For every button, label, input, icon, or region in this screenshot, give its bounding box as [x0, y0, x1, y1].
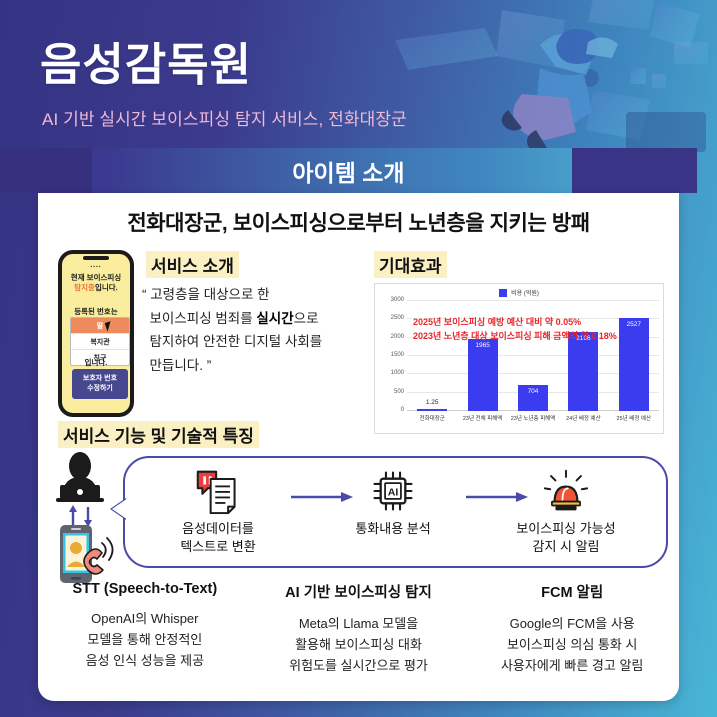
section-title: 아이템 소개 [0, 148, 697, 193]
chart-bar-value-1: 1965 [475, 342, 489, 349]
chart-annotation-1: 2023년 노년층 대상 보이스피싱 피해 금액의 약 0.18% [413, 330, 617, 344]
flow-label-0: 음성데이터를 텍스트로 변환 [143, 520, 293, 555]
flow-step-2: 보이스피싱 가능성 감지 시 알림 [491, 465, 641, 555]
expected-effect-chart: 비용 (억원) 0500100015002000250030001.25전화대장… [374, 283, 664, 434]
phone-status-line1: 현재 보이스피싱 [71, 273, 121, 282]
legend-label-0: 비용 (억원) [511, 288, 539, 297]
feature-heading-1: AI 기반 보이스피싱 탐지 [258, 581, 460, 602]
chart-bar-3: 216624년 배정 예산 [568, 332, 598, 411]
feature-column-2: FCM 알림 Google의 FCM을 사용 보이스피싱 의심 통화 시 사용자… [465, 581, 679, 676]
feature-body-1-line3: 위험도를 실시간으로 평가 [289, 658, 428, 673]
chart-annotations: 2025년 보이스피싱 예방 예산 대비 약 0.05% 2023년 노년층 대… [413, 316, 617, 343]
chart-ytick-3: 1500 [391, 352, 404, 358]
chart-legend: 비용 (억원) [375, 288, 663, 297]
flow-step-1: AI 통화내용 분석 [318, 465, 468, 538]
chart-xtick-0: 전화대장군 [420, 414, 445, 422]
quote-close: ” [207, 358, 212, 373]
feature-body-1-line2: 활용해 보이스피싱 대화 [295, 637, 422, 652]
chart-annotation-0: 2025년 보이스피싱 예방 예산 대비 약 0.05% [413, 316, 617, 330]
phone-status-suffix: 입니다. [95, 283, 118, 292]
feature-heading-0: STT (Speech-to-Text) [44, 581, 246, 597]
chart-ytick-2: 1000 [391, 370, 404, 376]
feature-body-2-line3: 사용자에게 빠른 경고 알림 [501, 658, 643, 673]
content-card: 전화대장군, 보이스피싱으로부터 노년층을 지키는 방패 ▪▪▪▪ 현재 보이스… [38, 193, 679, 701]
phone-select-tail: 입니다. [62, 357, 130, 368]
service-intro-quote: “ 고령층을 대상으로 한 보이스피싱 범죄를 실시간으로 탐지하여 안전한 디… [142, 283, 382, 378]
flow-label-2: 보이스피싱 가능성 감지 시 알림 [491, 520, 641, 555]
edit-guardian-number-button[interactable]: 보호자 번호 수정하기 [72, 369, 128, 399]
feature-body-2-line1: Google의 FCM을 사용 [510, 616, 635, 631]
flow-label-0-line1: 음성데이터를 [182, 521, 254, 536]
flow-label-2-line1: 보이스피싱 가능성 [516, 521, 615, 536]
flow-step-0: 음성데이터를 텍스트로 변환 [143, 465, 293, 555]
chart-ytick-1: 500 [394, 389, 404, 395]
victim-phone-call-icon [52, 523, 114, 585]
balloon-tail [112, 498, 128, 520]
page-title: 음성감독원 [40, 28, 252, 93]
chart-xtick-3: 24년 배정 예산 [566, 414, 600, 422]
chart-bar-value-0: 1.25 [426, 399, 439, 406]
quote-open: “ [142, 287, 147, 302]
flow-label-2-line2: 감지 시 알림 [532, 539, 599, 554]
chart-xtick-2: 23년 노년층 피해액 [511, 414, 556, 422]
feature-body-0: OpenAI의 Whisper 모델을 통해 안정적인 음성 인식 성능을 제공 [44, 608, 246, 671]
guardian-option-1[interactable]: 복지관 [71, 334, 129, 350]
phone-notch [83, 256, 109, 260]
flow-label-0-line2: 텍스트로 변환 [180, 539, 255, 554]
chart-bar-4: 252725년 배정 예산 [619, 318, 649, 411]
slide-root: 음성감독원 AI 기반 실시간 보이스피싱 탐지 서비스, 전화대장군 아이템 … [0, 0, 717, 717]
hero-illustration [390, 0, 717, 165]
quote-line3: 탐지하여 안전한 디지털 사회를 [150, 334, 323, 349]
quote-line2-a: 보이스피싱 범죄를 [150, 311, 257, 326]
flow-label-1-line1: 통화내용 분석 [355, 521, 430, 536]
feature-body-1: Meta의 Llama 모델을 활용해 보이스피싱 대화 위험도를 실시간으로 … [258, 613, 460, 676]
siren-alert-icon [491, 465, 641, 517]
edit-button-line2: 수정하기 [87, 385, 113, 392]
page-subtitle: AI 기반 실시간 보이스피싱 탐지 서비스, 전화대장군 [42, 105, 407, 130]
chart-ytick-4: 2000 [391, 334, 404, 340]
guardian-option-0[interactable]: 딸 [71, 318, 129, 334]
features-title: 서비스 기능 및 기술적 특징 [58, 421, 259, 448]
section-band: 아이템 소개 [0, 148, 697, 193]
card-heading: 전화대장군, 보이스피싱으로부터 노년층을 지키는 방패 [38, 207, 679, 237]
feature-body-0-line2: 모델을 통해 안정적인 [87, 632, 202, 647]
feature-columns: STT (Speech-to-Text) OpenAI의 Whisper 모델을… [38, 581, 679, 676]
phone-select-label: 등록된 번호는 [62, 306, 130, 317]
chart-bar-1: 196523년 전체 피해액 [468, 339, 498, 411]
feature-body-0-line1: OpenAI의 Whisper [91, 611, 198, 626]
chart-xtick-1: 23년 전체 피해액 [463, 414, 503, 422]
service-intro-title: 서비스 소개 [146, 251, 239, 278]
ai-chip-icon: AI [318, 465, 468, 517]
phone-statusbar-dots: ▪▪▪▪ [90, 264, 101, 270]
phone-mockup: ▪▪▪▪ 현재 보이스피싱 탐지중입니다. 등록된 번호는 딸 복지관 친구 입… [58, 250, 134, 417]
chart-gridline-6: 3000 [407, 300, 659, 301]
phone-detect-status: 현재 보이스피싱 탐지중입니다. [62, 273, 130, 293]
quote-line4: 만듭니다. [150, 358, 203, 373]
feature-body-0-line3: 음성 인식 성능을 제공 [86, 653, 204, 668]
quote-line2-b: 으로 [294, 311, 319, 326]
quote-line2-bold: 실시간 [256, 311, 293, 326]
chart-bar-2: 70423년 노년층 피해액 [518, 385, 548, 411]
chart-xtick-4: 25년 배정 예산 [617, 414, 651, 422]
chart-bar-value-4: 2527 [627, 321, 641, 328]
svg-text:AI: AI [388, 486, 399, 498]
hacker-icon [52, 451, 108, 505]
chart-ytick-5: 2500 [391, 315, 404, 321]
phone-status-highlight: 탐지중 [74, 283, 95, 292]
edit-button-line1: 보호자 번호 [83, 375, 117, 382]
chart-ytick-0: 0 [401, 407, 404, 413]
feature-column-0: STT (Speech-to-Text) OpenAI의 Whisper 모델을… [38, 581, 252, 676]
flow-label-1: 통화내용 분석 [318, 520, 468, 538]
feature-body-1-line1: Meta의 Llama 모델을 [299, 616, 418, 631]
chart-bar-0: 1.25전화대장군 [417, 409, 447, 411]
chart-title: 기대효과 [374, 251, 447, 278]
document-speech-icon [143, 465, 293, 517]
feature-column-1: AI 기반 보이스피싱 탐지 Meta의 Llama 모델을 활용해 보이스피싱… [252, 581, 466, 676]
chart-ytick-6: 3000 [391, 297, 404, 303]
feature-heading-2: FCM 알림 [471, 581, 673, 602]
feature-body-2-line2: 보이스피싱 의심 통화 시 [507, 637, 637, 652]
legend-swatch-icon [499, 289, 507, 297]
quote-line1: 고령층을 대상으로 한 [150, 287, 269, 302]
chart-bar-value-2: 704 [528, 388, 539, 395]
feature-body-2: Google의 FCM을 사용 보이스피싱 의심 통화 시 사용자에게 빠른 경… [471, 613, 673, 676]
